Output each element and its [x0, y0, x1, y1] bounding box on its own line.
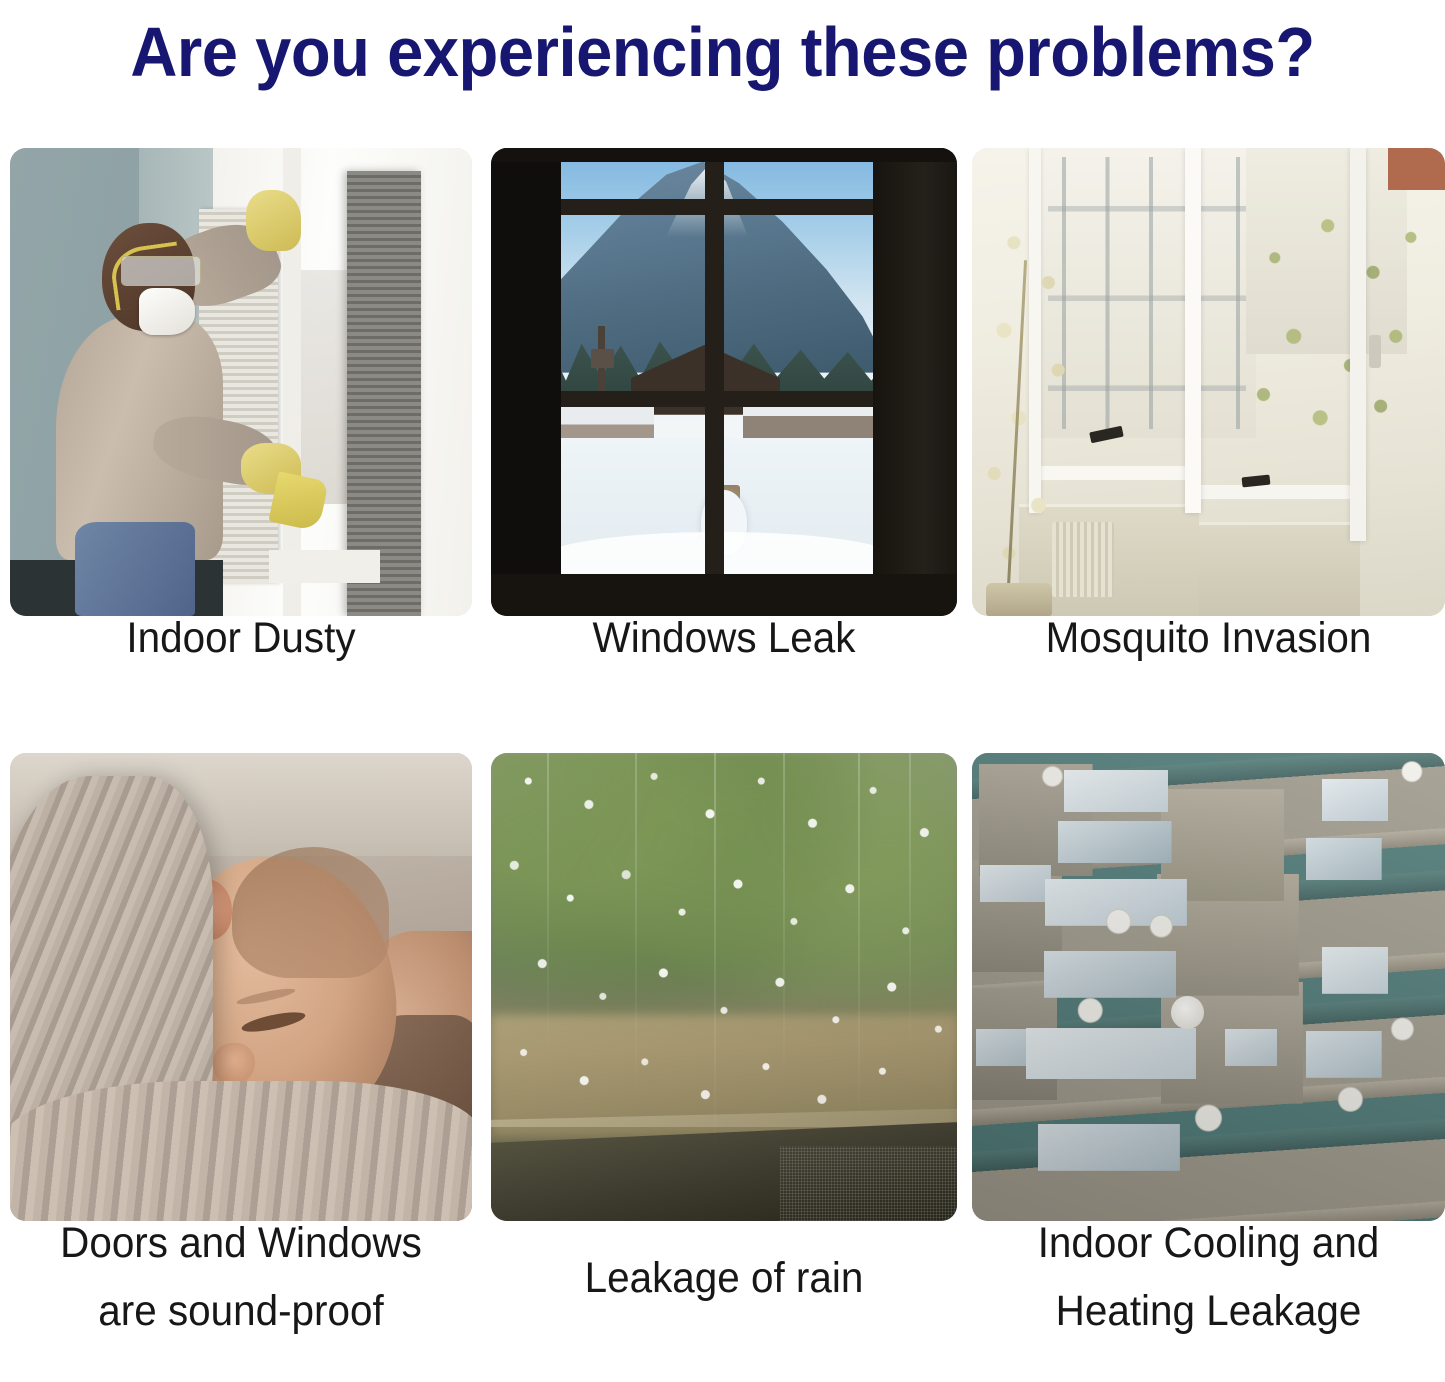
problem-tile-leakage-of-rain[interactable]: [491, 753, 957, 1221]
problem-tile-cooling-heating-leakage[interactable]: [972, 753, 1445, 1221]
problem-tile-mosquito-invasion[interactable]: [972, 148, 1445, 616]
problem-grid: Indoor Dusty Windows Leak Mosquito Invas…: [0, 104, 1445, 1382]
problem-tile-indoor-dusty[interactable]: [10, 148, 472, 616]
photo-mosquito-invasion: [972, 148, 1445, 616]
photo-sound-proof: [10, 753, 472, 1221]
caption-leakage-of-rain: Leakage of rain: [505, 1244, 943, 1312]
photo-leakage-of-rain: [491, 753, 957, 1221]
infographic-page: Are you experiencing these problems?: [0, 0, 1445, 1382]
photo-cooling-heating-leakage: [972, 753, 1445, 1221]
caption-windows-leak: Windows Leak: [505, 604, 943, 672]
caption-mosquito-invasion: Mosquito Invasion: [986, 604, 1431, 672]
caption-sound-proof: Doors and Windows are sound-proof: [24, 1209, 458, 1345]
problem-tile-sound-proof[interactable]: [10, 753, 472, 1221]
photo-indoor-dusty: [10, 148, 472, 616]
page-title: Are you experiencing these problems?: [51, 0, 1395, 104]
caption-cooling-heating-leakage: Indoor Cooling and Heating Leakage: [986, 1209, 1431, 1345]
photo-windows-leak: [491, 148, 957, 616]
caption-indoor-dusty: Indoor Dusty: [24, 604, 458, 672]
problem-tile-windows-leak[interactable]: [491, 148, 957, 616]
